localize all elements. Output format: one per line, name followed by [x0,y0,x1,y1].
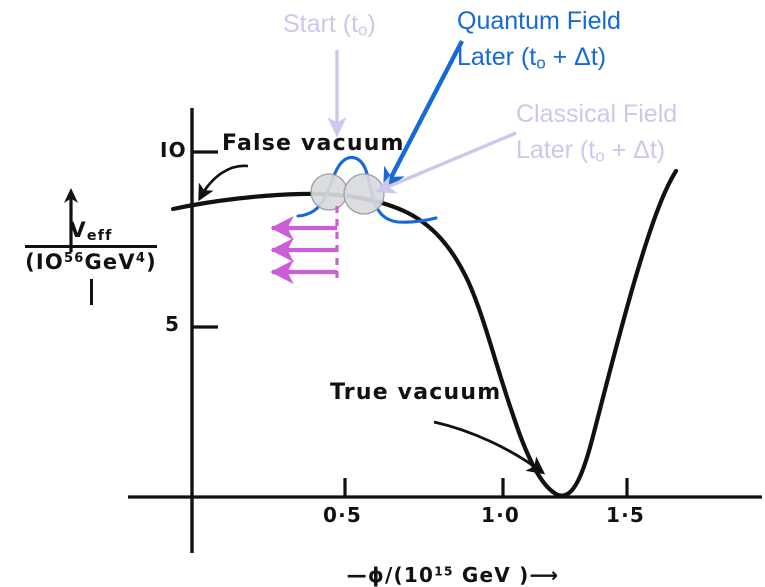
y-axis-title-tail-bar [90,279,93,305]
start-label-text: Start (t [283,10,358,38]
y-axis-title: Veff (IO56GeV4) [16,218,166,305]
start-label-close: ) [367,10,375,38]
quantum-later-b: + Δt) [546,43,606,71]
y-axis-title-den-mid: GeV [84,250,135,274]
y-axis-title-denominator: (IO56GeV4) [25,248,157,274]
false-vacuum-leader-arrow [200,166,248,198]
classical-ball-start [311,174,347,210]
classical-field-label-line2: Later (to + Δt) [516,136,665,167]
y-tick-label-5: 5 [165,313,180,337]
quantum-field-label-line2: Later (to + Δt) [457,43,606,74]
quantum-later-a: Later (t [457,43,536,71]
y-axis-title-numerator: Veff [25,218,157,248]
quantum-leader-arrow [385,41,462,189]
x-axis-title: —ϕ/(1015 GeV )⟶ [314,540,559,587]
x-axis-title-suffix: GeV ) [454,563,530,587]
classical-later-a: Later (t [516,136,595,164]
classical-ball-later [344,174,384,214]
classical-later-b: + Δt) [605,136,665,164]
x-axis-title-dash: — [347,563,368,587]
quantum-later-sub: o [536,54,545,73]
classical-field-label-line1: Classical Field [516,100,677,130]
x-tick-label-1-0: 1·0 [481,504,520,528]
x-tick-label-1-5: 1·5 [606,504,645,528]
rolling-direction-arrows [272,228,337,272]
false-vacuum-label: False vacuum [222,131,405,157]
classical-later-sub: o [595,147,604,166]
axis-lines [128,108,762,553]
effective-potential-figure: IO 5 0·5 1·0 1·5 —ϕ/(1015 GeV )⟶ Veff (I… [0,0,765,587]
quantum-field-label-line1: Quantum Field [457,7,621,37]
x-axis-title-arrow: ⟶ [529,563,559,587]
x-axis-ticks [345,478,627,497]
y-axis-title-den-sup2: 4 [136,251,146,266]
start-label: Start (to) [283,10,376,41]
y-axis-title-v: V [69,218,86,242]
x-tick-label-0-5: 0·5 [323,504,362,528]
y-axis-title-den-sup1: 56 [64,251,85,266]
true-vacuum-label: True vacuum [330,380,501,406]
x-axis-title-main: ϕ/(10 [368,563,434,587]
y-axis-title-den-close: ) [146,250,157,274]
y-tick-label-10: IO [160,139,187,163]
y-axis-title-eff: eff [87,228,113,244]
y-axis-title-fraction: Veff (IO56GeV4) [25,218,157,274]
classical-field-balls [311,174,384,214]
y-axis-title-den-open: (IO [25,250,64,274]
x-axis-title-exponent: 15 [434,563,454,578]
